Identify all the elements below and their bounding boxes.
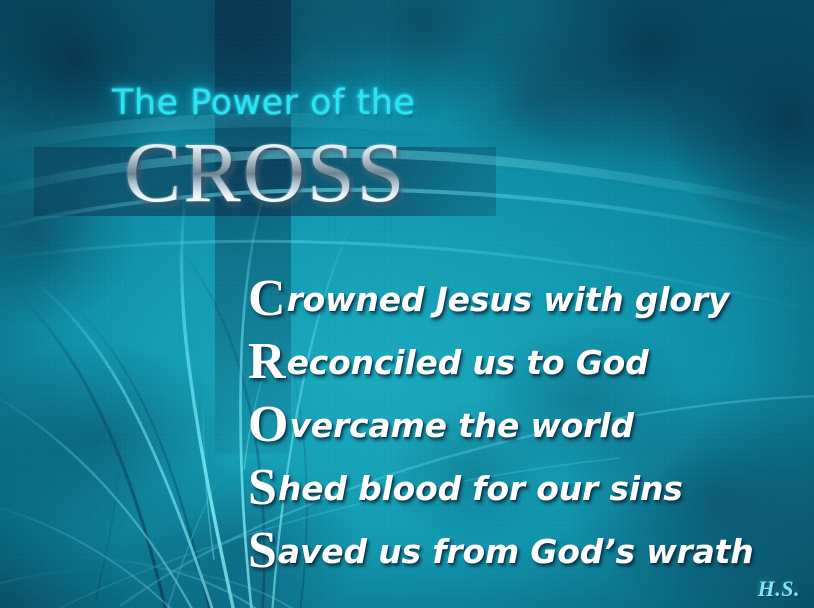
acrostic-initial-s1: S — [248, 459, 277, 516]
acrostic-initial-o: O — [248, 396, 288, 453]
acrostic-text-3: vercame the world — [289, 406, 633, 445]
headline-block: The Power of the CROSS — [112, 86, 652, 215]
acrostic-initial-c: C — [248, 270, 286, 327]
acrostic-line-3: Overcame the world — [248, 394, 808, 457]
acrostic-initial-s2: S — [248, 522, 277, 579]
acrostic-line-2: Reconciled us to God — [248, 331, 808, 394]
acrostic-text-1: rowned Jesus with glory — [287, 280, 730, 319]
poster-canvas: The Power of the CROSS Crowned Jesus wit… — [0, 0, 814, 608]
acrostic-initial-r: R — [248, 333, 286, 390]
acrostic-line-1: Crowned Jesus with glory — [248, 268, 808, 331]
acrostic-text-5: aved us from God’s wrath — [278, 532, 754, 571]
title-subheading: The Power of the — [112, 86, 652, 121]
acrostic-list: Crowned Jesus with glory Reconciled us t… — [248, 268, 808, 583]
acrostic-line-4: Shed blood for our sins — [248, 457, 808, 520]
artist-signature: H.S. — [758, 576, 800, 602]
acrostic-text-4: hed blood for our sins — [278, 469, 683, 508]
acrostic-text-2: econciled us to God — [287, 343, 649, 382]
page-title: CROSS — [124, 129, 652, 215]
acrostic-line-5: Saved us from God’s wrath — [248, 520, 808, 583]
